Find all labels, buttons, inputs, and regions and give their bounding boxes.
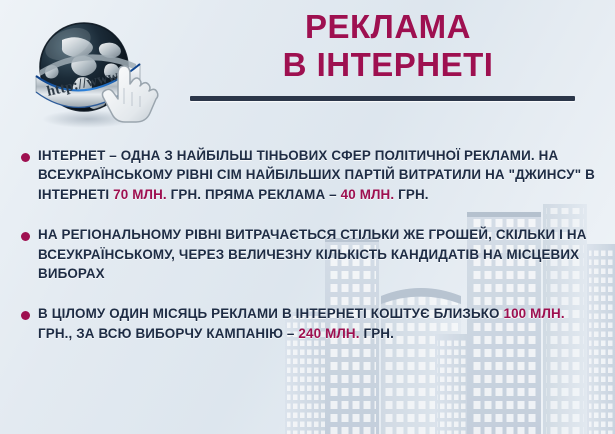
- text-segment: ГРН. ПРЯМА РЕКЛАМА –: [167, 187, 341, 202]
- list-item: В ЦІЛОМУ ОДИН МІСЯЦЬ РЕКЛАМИ В ІНТЕРНЕТІ…: [0, 304, 615, 343]
- bullet-dot-icon: [21, 232, 30, 241]
- text-segment: ГРН.: [360, 326, 394, 341]
- title-line-1: РЕКЛАМА: [178, 8, 598, 46]
- page-title: РЕКЛАМА В ІНТЕРНЕТІ: [178, 8, 598, 84]
- bullet-text-1: ІНТЕРНЕТ – ОДНА З НАЙБІЛЬШ ТІНЬОВИХ СФЕР…: [38, 146, 601, 204]
- list-item: ІНТЕРНЕТ – ОДНА З НАЙБІЛЬШ ТІНЬОВИХ СФЕР…: [0, 146, 615, 204]
- infographic-slide: http://www. РЕКЛАМА В ІНТЕРНЕТІ ІНТЕРНЕТ…: [0, 0, 615, 434]
- text-segment: НА РЕГІОНАЛЬНОМУ РІВНІ ВИТРАЧАЄТЬСЯ СТІЛ…: [38, 227, 587, 281]
- highlighted-amount: 70 МЛН.: [113, 187, 167, 202]
- highlighted-amount: 100 МЛН.: [503, 306, 564, 321]
- text-segment: В ЦІЛОМУ ОДИН МІСЯЦЬ РЕКЛАМИ В ІНТЕРНЕТІ…: [38, 306, 503, 321]
- bullet-text-2: НА РЕГІОНАЛЬНОМУ РІВНІ ВИТРАЧАЄТЬСЯ СТІЛ…: [38, 225, 601, 283]
- highlighted-amount: 40 МЛН.: [341, 187, 395, 202]
- globe-www-cursor-icon: http://www.: [18, 14, 170, 132]
- text-segment: ГРН., ЗА ВСЮ ВИБОРЧУ КАМПАНІЮ –: [38, 326, 298, 341]
- bullet-dot-icon: [21, 153, 30, 162]
- highlighted-amount: 240 МЛН.: [298, 326, 359, 341]
- bullet-text-3: В ЦІЛОМУ ОДИН МІСЯЦЬ РЕКЛАМИ В ІНТЕРНЕТІ…: [38, 304, 601, 343]
- title-divider: [190, 96, 575, 101]
- bullet-list: ІНТЕРНЕТ – ОДНА З НАЙБІЛЬШ ТІНЬОВИХ СФЕР…: [0, 146, 615, 364]
- header: http://www. РЕКЛАМА В ІНТЕРНЕТІ: [0, 0, 615, 132]
- list-item: НА РЕГІОНАЛЬНОМУ РІВНІ ВИТРАЧАЄТЬСЯ СТІЛ…: [0, 225, 615, 283]
- bullet-dot-icon: [21, 311, 30, 320]
- title-line-2: В ІНТЕРНЕТІ: [178, 46, 598, 84]
- text-segment: ГРН.: [394, 187, 428, 202]
